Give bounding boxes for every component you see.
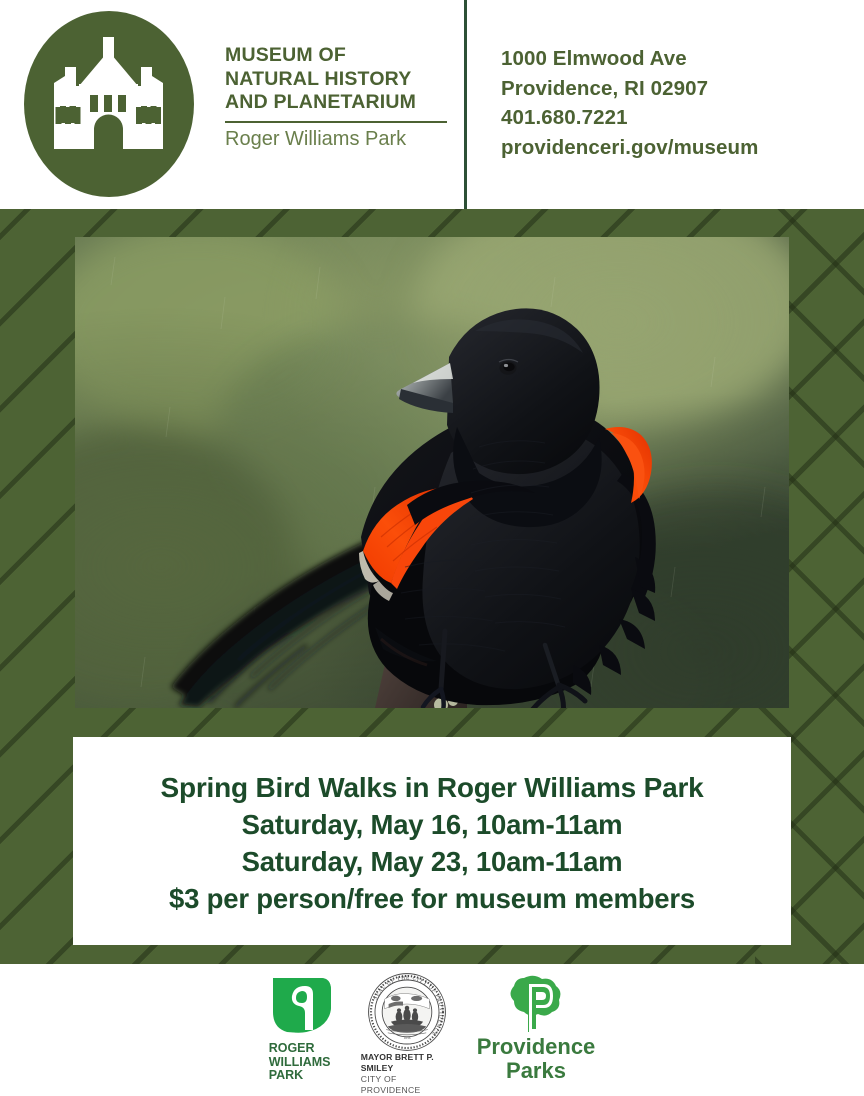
seal-caption-mayor: MAYOR BRETT P. SMILEY <box>361 1052 453 1074</box>
event-date-1: Saturday, May 16, 10am-11am <box>242 806 623 843</box>
event-price: $3 per person/free for museum members <box>169 880 695 917</box>
seal-caption-city: CITY OF PROVIDENCE <box>361 1074 453 1096</box>
providence-parks-logo: Providence Parks <box>477 972 596 1083</box>
museum-name-line-3: AND PLANETARIUM <box>225 91 450 115</box>
providence-parks-caption: Providence Parks <box>477 1035 596 1083</box>
header-vertical-divider <box>464 0 467 209</box>
svg-text:1636: 1636 <box>403 1036 410 1040</box>
museum-name-line-2: NATURAL HISTORY <box>225 68 450 92</box>
poster-flyer: MUSEUM OF NATURAL HISTORY AND PLANETARIU… <box>0 0 864 1080</box>
museum-wordmark: MUSEUM OF NATURAL HISTORY AND PLANETARIU… <box>225 44 450 151</box>
rwp-caption-line-2: WILLIAMS <box>269 1055 331 1069</box>
museum-name-line-1: MUSEUM OF <box>225 44 450 68</box>
event-date-2: Saturday, May 23, 10am-11am <box>242 843 623 880</box>
city-of-providence-seal-icon: SEAL OF THE CITY OF PROVIDENCE <box>367 972 447 1052</box>
pp-caption-line-2: Parks <box>477 1059 596 1083</box>
museum-subtitle: Roger Williams Park <box>225 127 450 151</box>
roger-williams-park-swan-icon <box>269 972 337 1040</box>
rwp-caption-line-1: ROGER <box>269 1041 315 1055</box>
roger-williams-park-caption: ROGER WILLIAMS PARK <box>269 1042 337 1083</box>
wordmark-divider-rule <box>225 121 447 124</box>
city-of-providence-logo: SEAL OF THE CITY OF PROVIDENCE <box>361 972 453 1096</box>
footer-logos: ROGER WILLIAMS PARK SEAL OF THE CITY OF … <box>0 964 864 1080</box>
providence-parks-tree-icon <box>502 972 564 1034</box>
header: MUSEUM OF NATURAL HISTORY AND PLANETARIU… <box>0 0 864 209</box>
contact-address-city: Providence, RI 02907 <box>501 74 831 104</box>
contact-phone: 401.680.7221 <box>501 103 831 133</box>
contact-block: 1000 Elmwood Ave Providence, RI 02907 40… <box>501 44 831 162</box>
pp-caption-line-1: Providence <box>477 1034 596 1059</box>
museum-building-icon <box>24 11 194 197</box>
contact-website[interactable]: providenceri.gov/museum <box>501 133 831 163</box>
roger-williams-park-logo: ROGER WILLIAMS PARK <box>269 972 337 1083</box>
event-details-box: Spring Bird Walks in Roger Williams Park… <box>73 737 791 945</box>
contact-address-street: 1000 Elmwood Ave <box>501 44 831 74</box>
red-winged-blackbird-photo <box>75 237 789 708</box>
event-title: Spring Bird Walks in Roger Williams Park <box>160 769 703 806</box>
